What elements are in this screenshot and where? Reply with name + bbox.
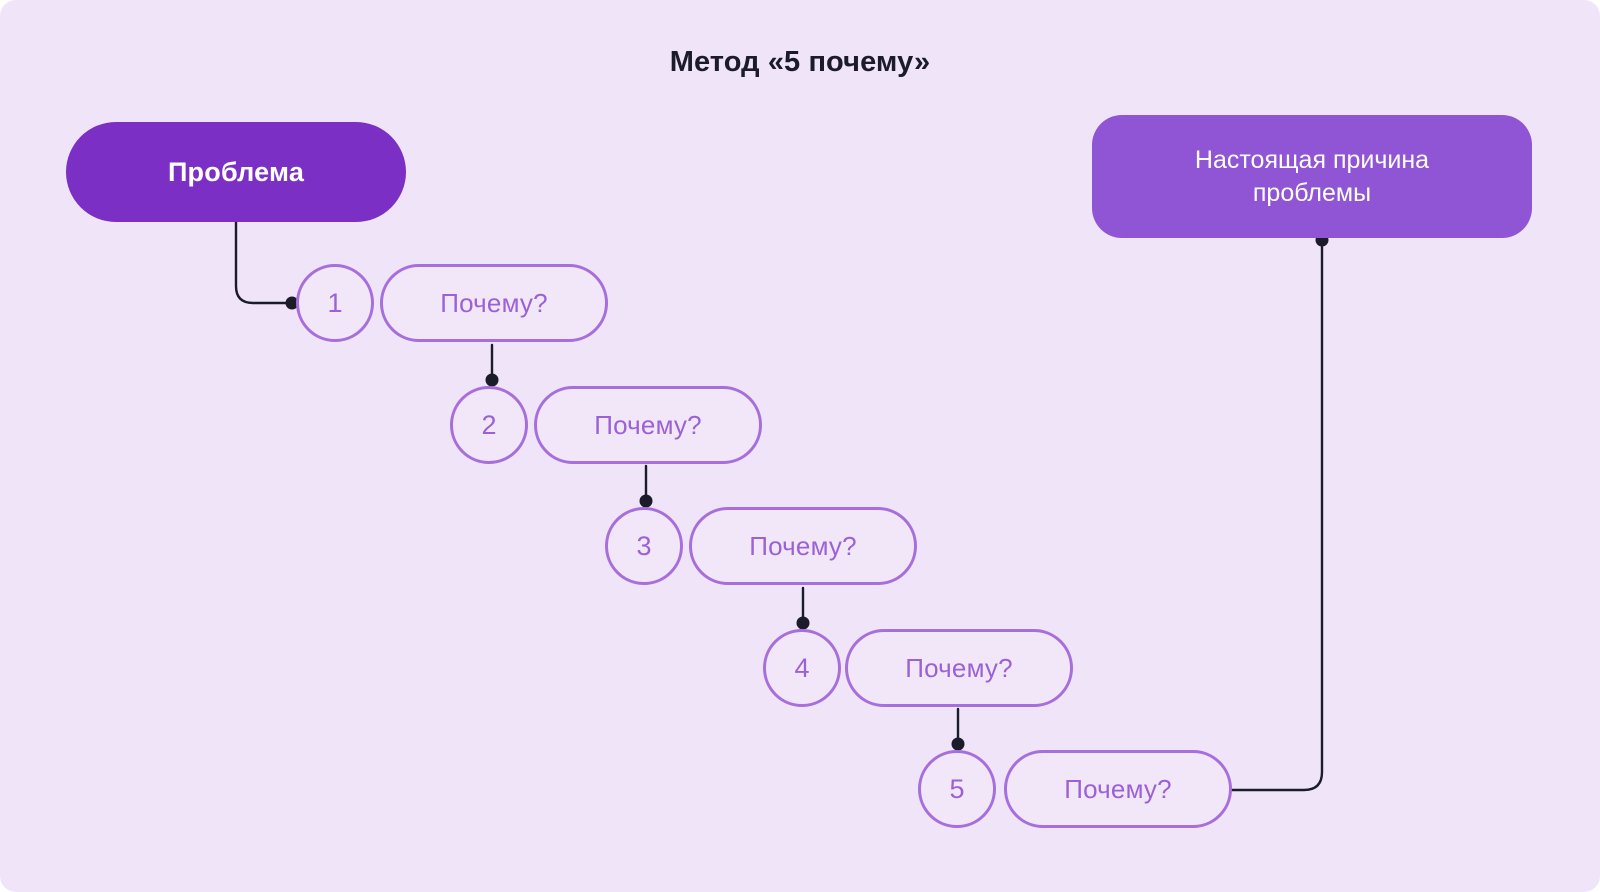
root-cause-label: Настоящая причинапроблемы	[1195, 144, 1429, 210]
step-3-question-pill[interactable]: Почему?	[689, 507, 917, 585]
step-2-question-label: Почему?	[594, 410, 702, 441]
connector-problem-to-step1	[236, 222, 289, 303]
step-2-number-circle[interactable]: 2	[450, 386, 528, 464]
step-1-question-label: Почему?	[440, 288, 548, 319]
root-cause-node[interactable]: Настоящая причинапроблемы	[1092, 115, 1532, 238]
step-4-question-label: Почему?	[905, 653, 1013, 684]
step-5-number-circle[interactable]: 5	[918, 750, 996, 828]
step-3-number-circle[interactable]: 3	[605, 507, 683, 585]
step-5-question-label: Почему?	[1064, 774, 1172, 805]
step-4-number-circle[interactable]: 4	[763, 629, 841, 707]
diagram-canvas: Метод «5 почему» Проблема Настоящая прич…	[0, 0, 1600, 892]
step-1-number-circle[interactable]: 1	[296, 264, 374, 342]
step-2-number: 2	[481, 412, 496, 439]
step-2-question-pill[interactable]: Почему?	[534, 386, 762, 464]
root-cause-line1: Настоящая причина	[1195, 146, 1429, 174]
step-3-question-label: Почему?	[749, 531, 857, 562]
problem-node[interactable]: Проблема	[66, 122, 406, 222]
step-5-question-pill[interactable]: Почему?	[1004, 750, 1232, 828]
step-3-number: 3	[636, 533, 651, 560]
connector-dot-step5	[952, 738, 965, 751]
step-4-number: 4	[794, 655, 809, 682]
step-4-question-pill[interactable]: Почему?	[845, 629, 1073, 707]
connector-dot-step2	[486, 374, 499, 387]
step-5-number: 5	[949, 776, 964, 803]
root-cause-line2: проблемы	[1253, 179, 1371, 207]
step-1-question-pill[interactable]: Почему?	[380, 264, 608, 342]
connector-dot-step3	[640, 495, 653, 508]
step-1-number: 1	[327, 290, 342, 317]
problem-label: Проблема	[168, 157, 304, 188]
connector-dot-step4	[797, 617, 810, 630]
page-title: Метод «5 почему»	[0, 46, 1600, 79]
connector-step5-to-root-cause	[1228, 245, 1322, 790]
